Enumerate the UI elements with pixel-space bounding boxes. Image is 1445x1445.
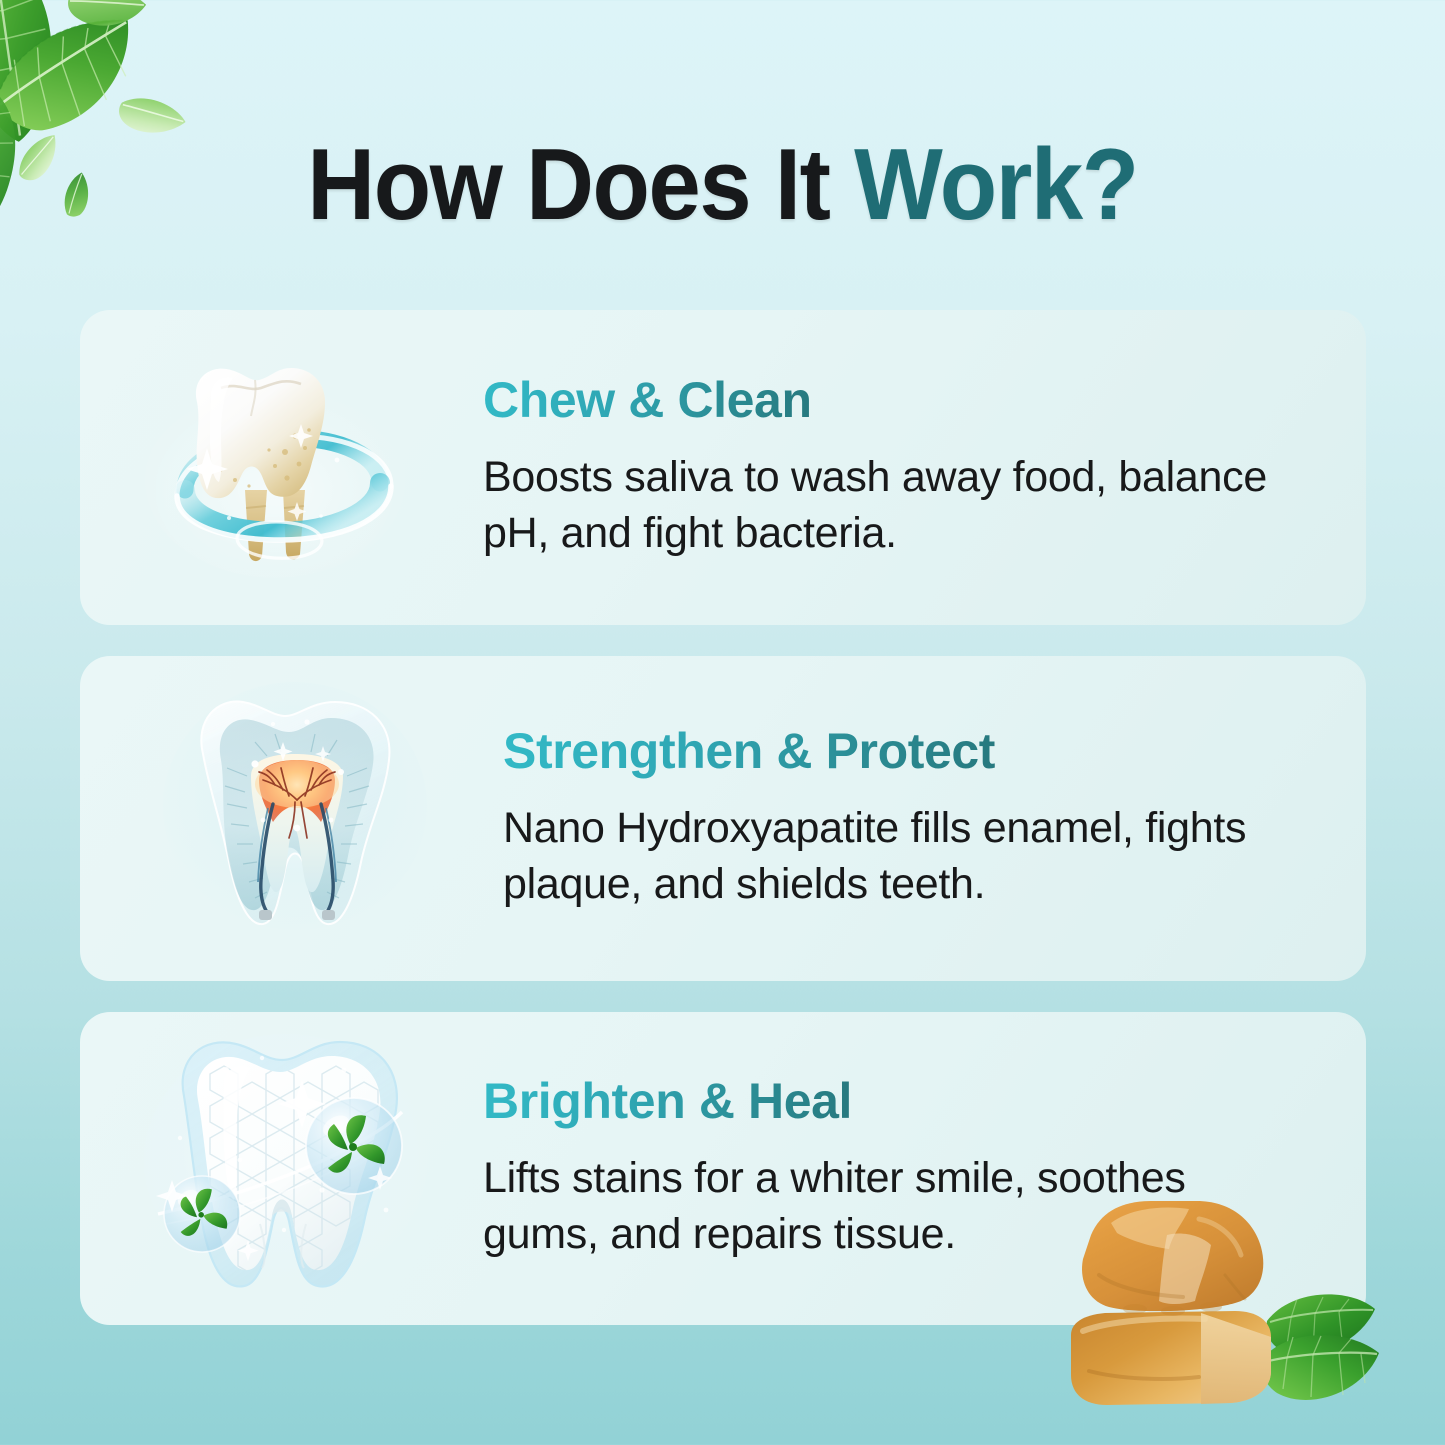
steps-list: Chew & Clean Boosts saliva to wash away … xyxy=(80,310,1366,1325)
stained-molar-tooth-with-cleaning-swirl-icon xyxy=(80,310,475,625)
step-card-brighten-heal[interactable]: Brighten & Heal Lifts stains for a white… xyxy=(80,1012,1366,1325)
step-heading: Chew & Clean xyxy=(483,373,812,428)
step-card-chew-clean[interactable]: Chew & Clean Boosts saliva to wash away … xyxy=(80,310,1366,625)
page-title: How Does It Work? xyxy=(0,132,1445,238)
tooth-cross-section-pulp-nerve-icon xyxy=(80,656,475,981)
step-copy: Chew & Clean Boosts saliva to wash away … xyxy=(475,373,1343,562)
step-heading: Strengthen & Protect xyxy=(503,724,995,779)
step-body: Nano Hydroxyapatite fills enamel, fights… xyxy=(503,801,1323,913)
step-body: Boosts saliva to wash away food, balance… xyxy=(483,450,1303,562)
step-heading: Brighten & Heal xyxy=(483,1074,852,1129)
step-card-strengthen-protect[interactable]: Strengthen & Protect Nano Hydroxyapatite… xyxy=(80,656,1366,981)
page-title-accent: Work? xyxy=(854,129,1138,241)
white-tooth-shield-with-mint-bubbles-icon xyxy=(80,1012,475,1325)
step-copy: Brighten & Heal Lifts stains for a white… xyxy=(475,1074,1343,1263)
step-copy: Strengthen & Protect Nano Hydroxyapatite… xyxy=(475,724,1363,913)
step-body: Lifts stains for a whiter smile, soothes… xyxy=(483,1151,1303,1263)
page-title-primary: How Does It xyxy=(307,129,854,241)
